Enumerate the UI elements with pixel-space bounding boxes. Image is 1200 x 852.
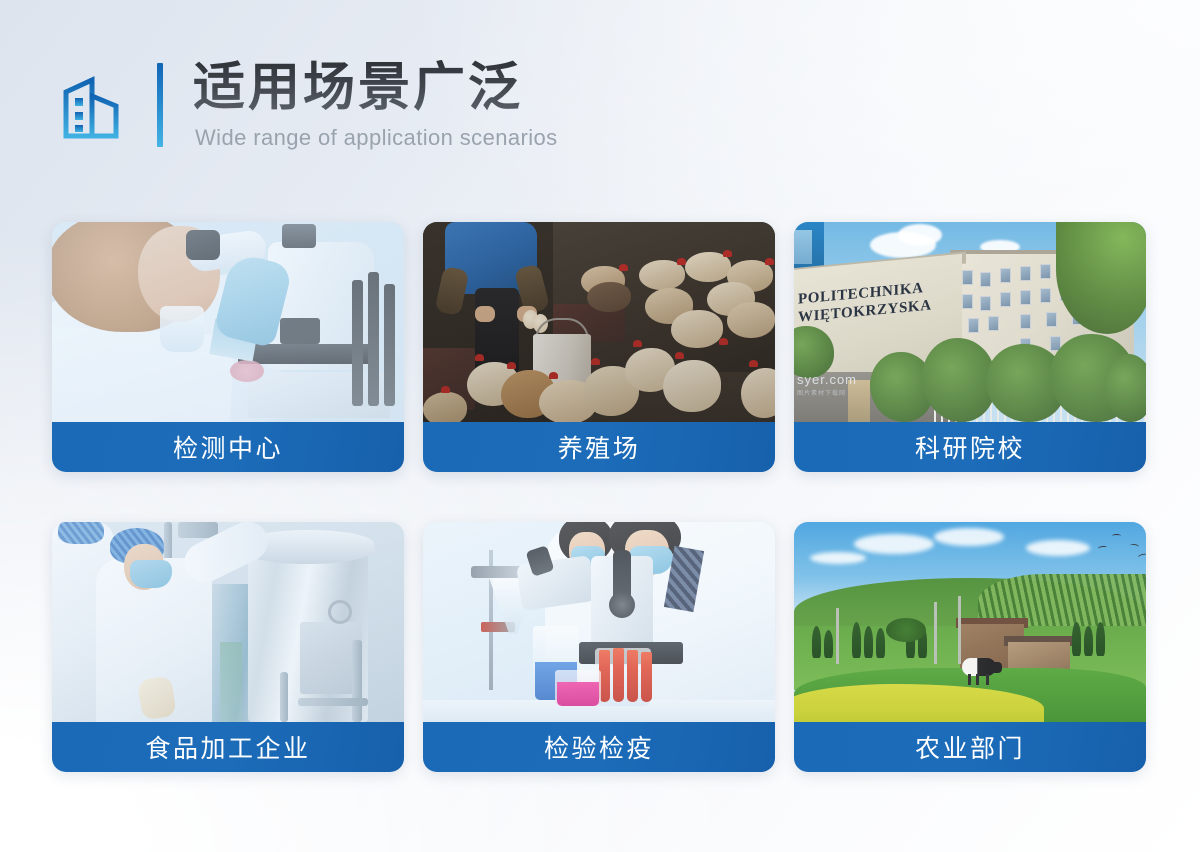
card-label: 检验检疫 <box>544 729 654 765</box>
card-label: 科研院校 <box>915 429 1025 465</box>
scenario-card[interactable]: POLITECHNIKA WIĘTOKRZYSKA syer.com 图片素材下… <box>794 222 1146 472</box>
scenario-card-grid: 检测中心 <box>52 222 1148 772</box>
office-building-icon <box>62 70 124 140</box>
card-caption: 检测中心 <box>52 422 404 472</box>
poultry-farm-photo <box>423 222 775 422</box>
page-title: 适用场景广泛 <box>193 60 558 116</box>
scenario-card[interactable]: 食品加工企业 <box>52 522 404 772</box>
food-processing-plant-photo <box>52 522 404 722</box>
scenario-card[interactable]: 检测中心 <box>52 222 404 472</box>
header-titles: 适用场景广泛 Wide range of application scenari… <box>193 58 558 151</box>
card-label: 养殖场 <box>558 429 641 465</box>
header-divider <box>157 63 163 147</box>
card-caption: 食品加工企业 <box>52 722 404 772</box>
university-campus-photo: POLITECHNIKA WIĘTOKRZYSKA syer.com 图片素材下… <box>794 222 1146 422</box>
card-caption: 养殖场 <box>423 422 775 472</box>
card-caption: 农业部门 <box>794 722 1146 772</box>
card-label: 检测中心 <box>173 429 283 465</box>
inspection-quarantine-lab-photo <box>423 522 775 722</box>
page-background: 适用场景广泛 Wide range of application scenari… <box>0 0 1200 852</box>
scenario-card[interactable]: 农业部门 <box>794 522 1146 772</box>
card-caption: 科研院校 <box>794 422 1146 472</box>
card-caption: 检验检疫 <box>423 722 775 772</box>
card-label: 农业部门 <box>915 729 1025 765</box>
scenario-quarantine-card[interactable]: 检验检疫 <box>423 522 775 772</box>
lab-microscope-photo <box>52 222 404 422</box>
scenario-card[interactable]: 养殖场 <box>423 222 775 472</box>
card-label: 食品加工企业 <box>145 729 310 765</box>
page-subtitle: Wide range of application scenarios <box>195 125 558 151</box>
section-header: 适用场景广泛 Wide range of application scenari… <box>62 58 558 151</box>
agriculture-countryside-photo <box>794 522 1146 722</box>
